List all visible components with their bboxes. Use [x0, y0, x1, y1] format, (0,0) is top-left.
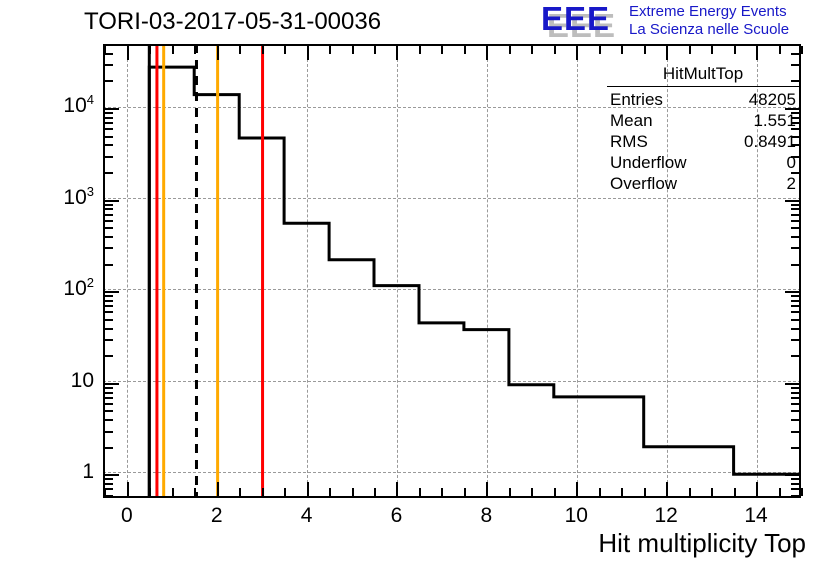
x-tick-top-9.5: [554, 46, 556, 54]
x-tick-minor-13.5: [734, 488, 736, 496]
y-tick-right-0.9: [791, 478, 799, 480]
y-tick-major-100: [105, 291, 119, 293]
x-tick-major-4: [307, 482, 309, 496]
y-tick-minor-2000: [105, 172, 113, 174]
y-tick-right-0.6: [791, 495, 799, 497]
y-tick-minor-600: [105, 220, 113, 222]
y-tick-minor-900: [105, 204, 113, 206]
x-tick-top-8.5: [509, 46, 511, 54]
histogram-canvas: TORI-03-2017-05-31-00036 EEE Extreme Ene…: [0, 0, 836, 572]
y-tick-minor-60: [105, 311, 113, 313]
stats-value: 0.8491: [744, 131, 796, 152]
y-tick-minor-200: [105, 264, 113, 266]
stats-value: 2: [787, 173, 796, 194]
x-tick-top-6.5: [419, 46, 421, 54]
x-tick-minor-3: [262, 488, 264, 496]
eee-logo-line1: Extreme Energy Events: [629, 3, 789, 21]
y-tick-right-200: [791, 264, 799, 266]
x-tick-top-4: [307, 46, 309, 60]
x-tick-minor-5.5: [374, 488, 376, 496]
y-tick-minor-0.6: [105, 495, 113, 497]
y-tick-right-9: [791, 387, 799, 389]
x-tick-minor-9: [531, 488, 533, 496]
y-tick-major-10: [105, 383, 119, 385]
y-tick-minor-30: [105, 339, 113, 341]
stats-row-rms: RMS0.8491: [605, 131, 801, 152]
x-tick-major-6: [396, 482, 398, 496]
stats-key: Overflow: [610, 173, 677, 194]
y-tick-minor-40: [105, 328, 113, 330]
stats-value: 48205: [749, 89, 796, 110]
x-tick-top-9: [531, 46, 533, 54]
y-tick-right-8: [791, 392, 799, 394]
x-tick-label-10: 10: [546, 504, 606, 528]
x-tick-top-11: [621, 46, 623, 54]
y-tick-minor-0.8: [105, 483, 113, 485]
y-tick-minor-20: [105, 355, 113, 357]
x-tick-major-12: [666, 482, 668, 496]
stats-value: 0: [787, 152, 796, 173]
stats-key: Entries: [610, 89, 663, 110]
x-tick-top-3: [262, 46, 264, 54]
x-tick-label-6: 6: [366, 504, 426, 528]
eee-logo: EEE Extreme Energy Events La Scienza nel…: [541, 2, 833, 42]
x-tick-major-14: [756, 482, 758, 496]
y-tick-right-3: [791, 431, 799, 433]
x-tick-major-10: [576, 482, 578, 496]
x-tick-minor-7: [441, 488, 443, 496]
x-tick-top-13: [711, 46, 713, 54]
x-tick-top-6: [396, 46, 398, 60]
x-tick-minor-14.5: [779, 488, 781, 496]
y-tick-minor-500: [105, 227, 113, 229]
y-tick-right-400: [791, 236, 799, 238]
x-tick-minor-13: [711, 488, 713, 496]
x-tick-top-3.5: [284, 46, 286, 54]
x-tick-minor-2.5: [239, 488, 241, 496]
x-tick-top-8: [486, 46, 488, 60]
y-tick-right-0.7: [791, 488, 799, 490]
y-tick-minor-7000: [105, 122, 113, 124]
x-tick-top-1: [172, 46, 174, 54]
stats-row-overflow: Overflow2: [605, 173, 801, 194]
y-tick-minor-9: [105, 387, 113, 389]
x-tick-label-2: 2: [187, 504, 247, 528]
y-tick-label-1000: 103: [10, 186, 94, 210]
y-tick-right-10: [785, 383, 799, 385]
y-tick-label-1: 1: [10, 460, 94, 484]
y-tick-minor-6: [105, 403, 113, 405]
x-tick-top-14.5: [779, 46, 781, 54]
stats-key: RMS: [610, 131, 648, 152]
x-tick-minor-7.5: [464, 488, 466, 496]
y-tick-minor-5: [105, 410, 113, 412]
y-tick-right-40000: [791, 53, 799, 55]
x-tick-major-0: [127, 482, 129, 496]
stats-row-mean: Mean1.551: [605, 110, 801, 131]
x-tick-label-4: 4: [277, 504, 337, 528]
x-tick-minor-10.5: [599, 488, 601, 496]
y-tick-minor-400: [105, 236, 113, 238]
stats-row-underflow: Underflow0: [605, 152, 801, 173]
y-tick-minor-50000: [105, 44, 113, 46]
x-tick-minor-3.5: [284, 488, 286, 496]
x-tick-minor-0.5: [149, 488, 151, 496]
y-tick-right-1: [785, 474, 799, 476]
stats-row-entries: Entries48205: [605, 89, 801, 110]
y-tick-right-7: [791, 397, 799, 399]
x-tick-top-0: [127, 46, 129, 60]
x-axis-title: Hit multiplicity Top: [598, 528, 806, 559]
y-tick-minor-800: [105, 208, 113, 210]
x-tick-top-4.5: [329, 46, 331, 54]
x-tick-top-2.5: [239, 46, 241, 54]
x-tick-top-0.5: [149, 46, 151, 54]
x-tick-top-7.5: [464, 46, 466, 54]
y-tick-right-50: [791, 319, 799, 321]
y-tick-minor-3: [105, 431, 113, 433]
y-tick-label-10: 10: [10, 369, 94, 393]
y-tick-right-300: [791, 247, 799, 249]
y-tick-label-100: 102: [10, 277, 94, 301]
x-tick-top-7: [441, 46, 443, 54]
stats-value: 1.551: [753, 110, 796, 131]
x-tick-top-5.5: [374, 46, 376, 54]
y-tick-minor-4000: [105, 144, 113, 146]
eee-logo-mark: EEE: [541, 2, 610, 35]
y-tick-right-900: [791, 204, 799, 206]
stats-rows: Entries48205Mean1.551RMS0.8491Underflow0…: [605, 89, 801, 194]
y-tick-minor-50: [105, 319, 113, 321]
y-tick-right-20: [791, 355, 799, 357]
y-tick-right-80: [791, 300, 799, 302]
y-tick-minor-20000: [105, 80, 113, 82]
y-tick-minor-7: [105, 397, 113, 399]
x-tick-minor-9.5: [554, 488, 556, 496]
x-tick-minor-15: [801, 488, 803, 496]
x-tick-major-8: [486, 482, 488, 496]
x-tick-label-0: 0: [97, 504, 157, 528]
stats-title: HitMultTop: [605, 63, 801, 86]
y-tick-minor-8000: [105, 117, 113, 119]
y-tick-right-90: [791, 295, 799, 297]
y-tick-right-500: [791, 227, 799, 229]
y-tick-minor-4: [105, 419, 113, 421]
y-tick-minor-5000: [105, 136, 113, 138]
y-tick-minor-0.7: [105, 488, 113, 490]
x-tick-top-5: [352, 46, 354, 54]
y-tick-minor-9000: [105, 112, 113, 114]
y-tick-major-10000: [105, 108, 119, 110]
x-tick-minor-1.5: [194, 488, 196, 496]
x-tick-label-8: 8: [456, 504, 516, 528]
y-tick-minor-3000: [105, 156, 113, 158]
stats-key: Mean: [610, 110, 653, 131]
y-tick-minor-300: [105, 247, 113, 249]
stats-key: Underflow: [610, 152, 687, 173]
x-tick-top-13.5: [734, 46, 736, 54]
page-title: TORI-03-2017-05-31-00036: [84, 8, 381, 36]
x-tick-minor-1: [172, 488, 174, 496]
x-tick-top--0.5: [104, 46, 106, 54]
y-tick-right-60: [791, 311, 799, 313]
x-tick-top-15: [801, 46, 803, 54]
y-tick-right-100: [785, 291, 799, 293]
y-tick-right-0.8: [791, 483, 799, 485]
x-tick-minor-4.5: [329, 488, 331, 496]
y-tick-right-600: [791, 220, 799, 222]
x-tick-label-14: 14: [726, 504, 786, 528]
y-tick-minor-6000: [105, 128, 113, 130]
y-tick-major-1000: [105, 200, 119, 202]
x-tick-label-12: 12: [636, 504, 696, 528]
y-tick-right-70: [791, 305, 799, 307]
y-tick-label-10000: 104: [10, 94, 94, 118]
y-tick-minor-80: [105, 300, 113, 302]
x-tick-top-11.5: [644, 46, 646, 54]
x-tick-top-2: [217, 46, 219, 60]
y-tick-right-700: [791, 214, 799, 216]
y-tick-right-50000: [791, 44, 799, 46]
x-tick-major-2: [217, 482, 219, 496]
y-tick-right-40: [791, 328, 799, 330]
stats-divider: [607, 86, 799, 87]
x-tick-top-10: [576, 46, 578, 60]
eee-logo-line2: La Scienza nelle Scuole: [629, 21, 789, 39]
y-tick-minor-2: [105, 447, 113, 449]
x-tick-top-10.5: [599, 46, 601, 54]
x-tick-minor-11.5: [644, 488, 646, 496]
y-tick-minor-8: [105, 392, 113, 394]
y-tick-minor-90: [105, 295, 113, 297]
y-tick-right-5: [791, 410, 799, 412]
x-tick-minor-5: [352, 488, 354, 496]
y-tick-major-1: [105, 474, 119, 476]
y-tick-minor-0.9: [105, 478, 113, 480]
y-tick-right-4: [791, 419, 799, 421]
y-tick-right-6: [791, 403, 799, 405]
y-tick-right-1000: [785, 200, 799, 202]
y-tick-minor-700: [105, 214, 113, 216]
x-tick-top-14: [756, 46, 758, 60]
eee-logo-text: Extreme Energy Events La Scienza nelle S…: [629, 3, 789, 39]
y-tick-right-800: [791, 208, 799, 210]
x-tick-minor-6.5: [419, 488, 421, 496]
y-tick-minor-30000: [105, 64, 113, 66]
x-tick-top-12: [666, 46, 668, 60]
x-tick-minor-12.5: [689, 488, 691, 496]
y-tick-right-2: [791, 447, 799, 449]
x-tick-minor--0.5: [104, 488, 106, 496]
y-tick-right-30: [791, 339, 799, 341]
y-tick-minor-40000: [105, 53, 113, 55]
y-tick-minor-70: [105, 305, 113, 307]
x-tick-top-12.5: [689, 46, 691, 54]
x-tick-minor-8.5: [509, 488, 511, 496]
x-tick-top-1.5: [194, 46, 196, 54]
x-tick-minor-11: [621, 488, 623, 496]
stats-box: HitMultTop Entries48205Mean1.551RMS0.849…: [605, 63, 801, 194]
